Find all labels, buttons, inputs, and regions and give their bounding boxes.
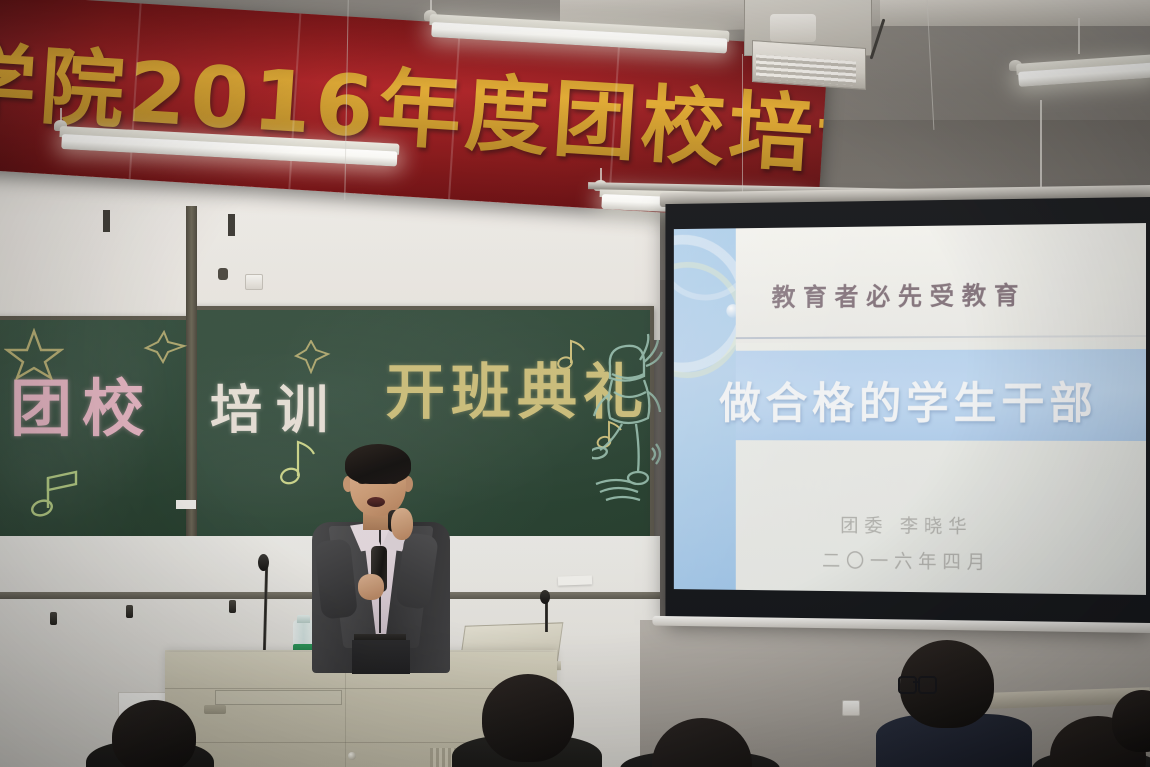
slide-title: 做合格的学生干部 (674, 367, 1146, 431)
speaker-hand-left (358, 574, 384, 600)
slide-header-text: 教育者必先受教育 (772, 276, 1027, 313)
speaker-hair (345, 444, 411, 484)
projector-lens (770, 14, 816, 42)
dancing-figure-doodle-icon (592, 332, 664, 524)
eyeglass-lens-right (918, 676, 937, 694)
screen-surface: 教育者必先受教育 做合格的学生干部 团委 李晓华 二〇一六年四月 (674, 223, 1146, 595)
gooseneck-microphone-head (258, 554, 269, 571)
speaker-hand-right (391, 508, 413, 540)
speaker-presenter (300, 448, 460, 673)
sparkle-doodle-icon (142, 330, 188, 364)
board-mount-bracket (103, 210, 110, 232)
podium-handle[interactable] (204, 705, 226, 714)
music-note-doodle-icon (28, 470, 90, 524)
lamp-rod (1078, 18, 1080, 54)
audience-member-head (482, 674, 574, 762)
slide-arc-top (674, 228, 736, 301)
wall-hook (126, 605, 133, 618)
slide-dot-accent (726, 304, 735, 318)
sparkle-doodle-icon (292, 340, 332, 374)
paper-sheet (558, 575, 592, 585)
eyeglass-lens-left (898, 676, 917, 694)
wall-hook (229, 600, 236, 613)
wall-outlet[interactable] (842, 700, 860, 716)
slide-date: 二〇一六年四月 (674, 545, 1146, 576)
wall-conduit-box (218, 268, 228, 280)
podium-control-panel[interactable] (215, 690, 342, 705)
podium-lock[interactable] (348, 752, 356, 760)
projection-screen: 教育者必先受教育 做合格的学生干部 团委 李晓华 二〇一六年四月 (665, 197, 1150, 627)
hanging-wire (742, 54, 743, 194)
speaker-trousers (352, 640, 410, 674)
slide-author: 团委 李晓华 (674, 510, 1146, 540)
wall-hook (50, 612, 57, 625)
desk-microphone-head (540, 590, 550, 604)
chalk-text-2: 培训 (210, 368, 342, 443)
speaker-mouth (367, 497, 385, 507)
presentation-slide: 教育者必先受教育 做合格的学生干部 团委 李晓华 二〇一六年四月 (674, 223, 1146, 595)
ceiling-panel (880, 0, 1150, 26)
star-doodle-icon (4, 328, 64, 380)
audience-member-head (112, 700, 196, 767)
lecture-hall-photo: 学院2016年度团校培训 (0, 0, 1150, 767)
chalk-piece (176, 500, 196, 509)
music-note-doodle-icon (556, 336, 590, 372)
eyeglasses-icon (898, 676, 932, 690)
wall-switch[interactable] (245, 274, 263, 290)
board-mount-bracket (228, 214, 235, 236)
